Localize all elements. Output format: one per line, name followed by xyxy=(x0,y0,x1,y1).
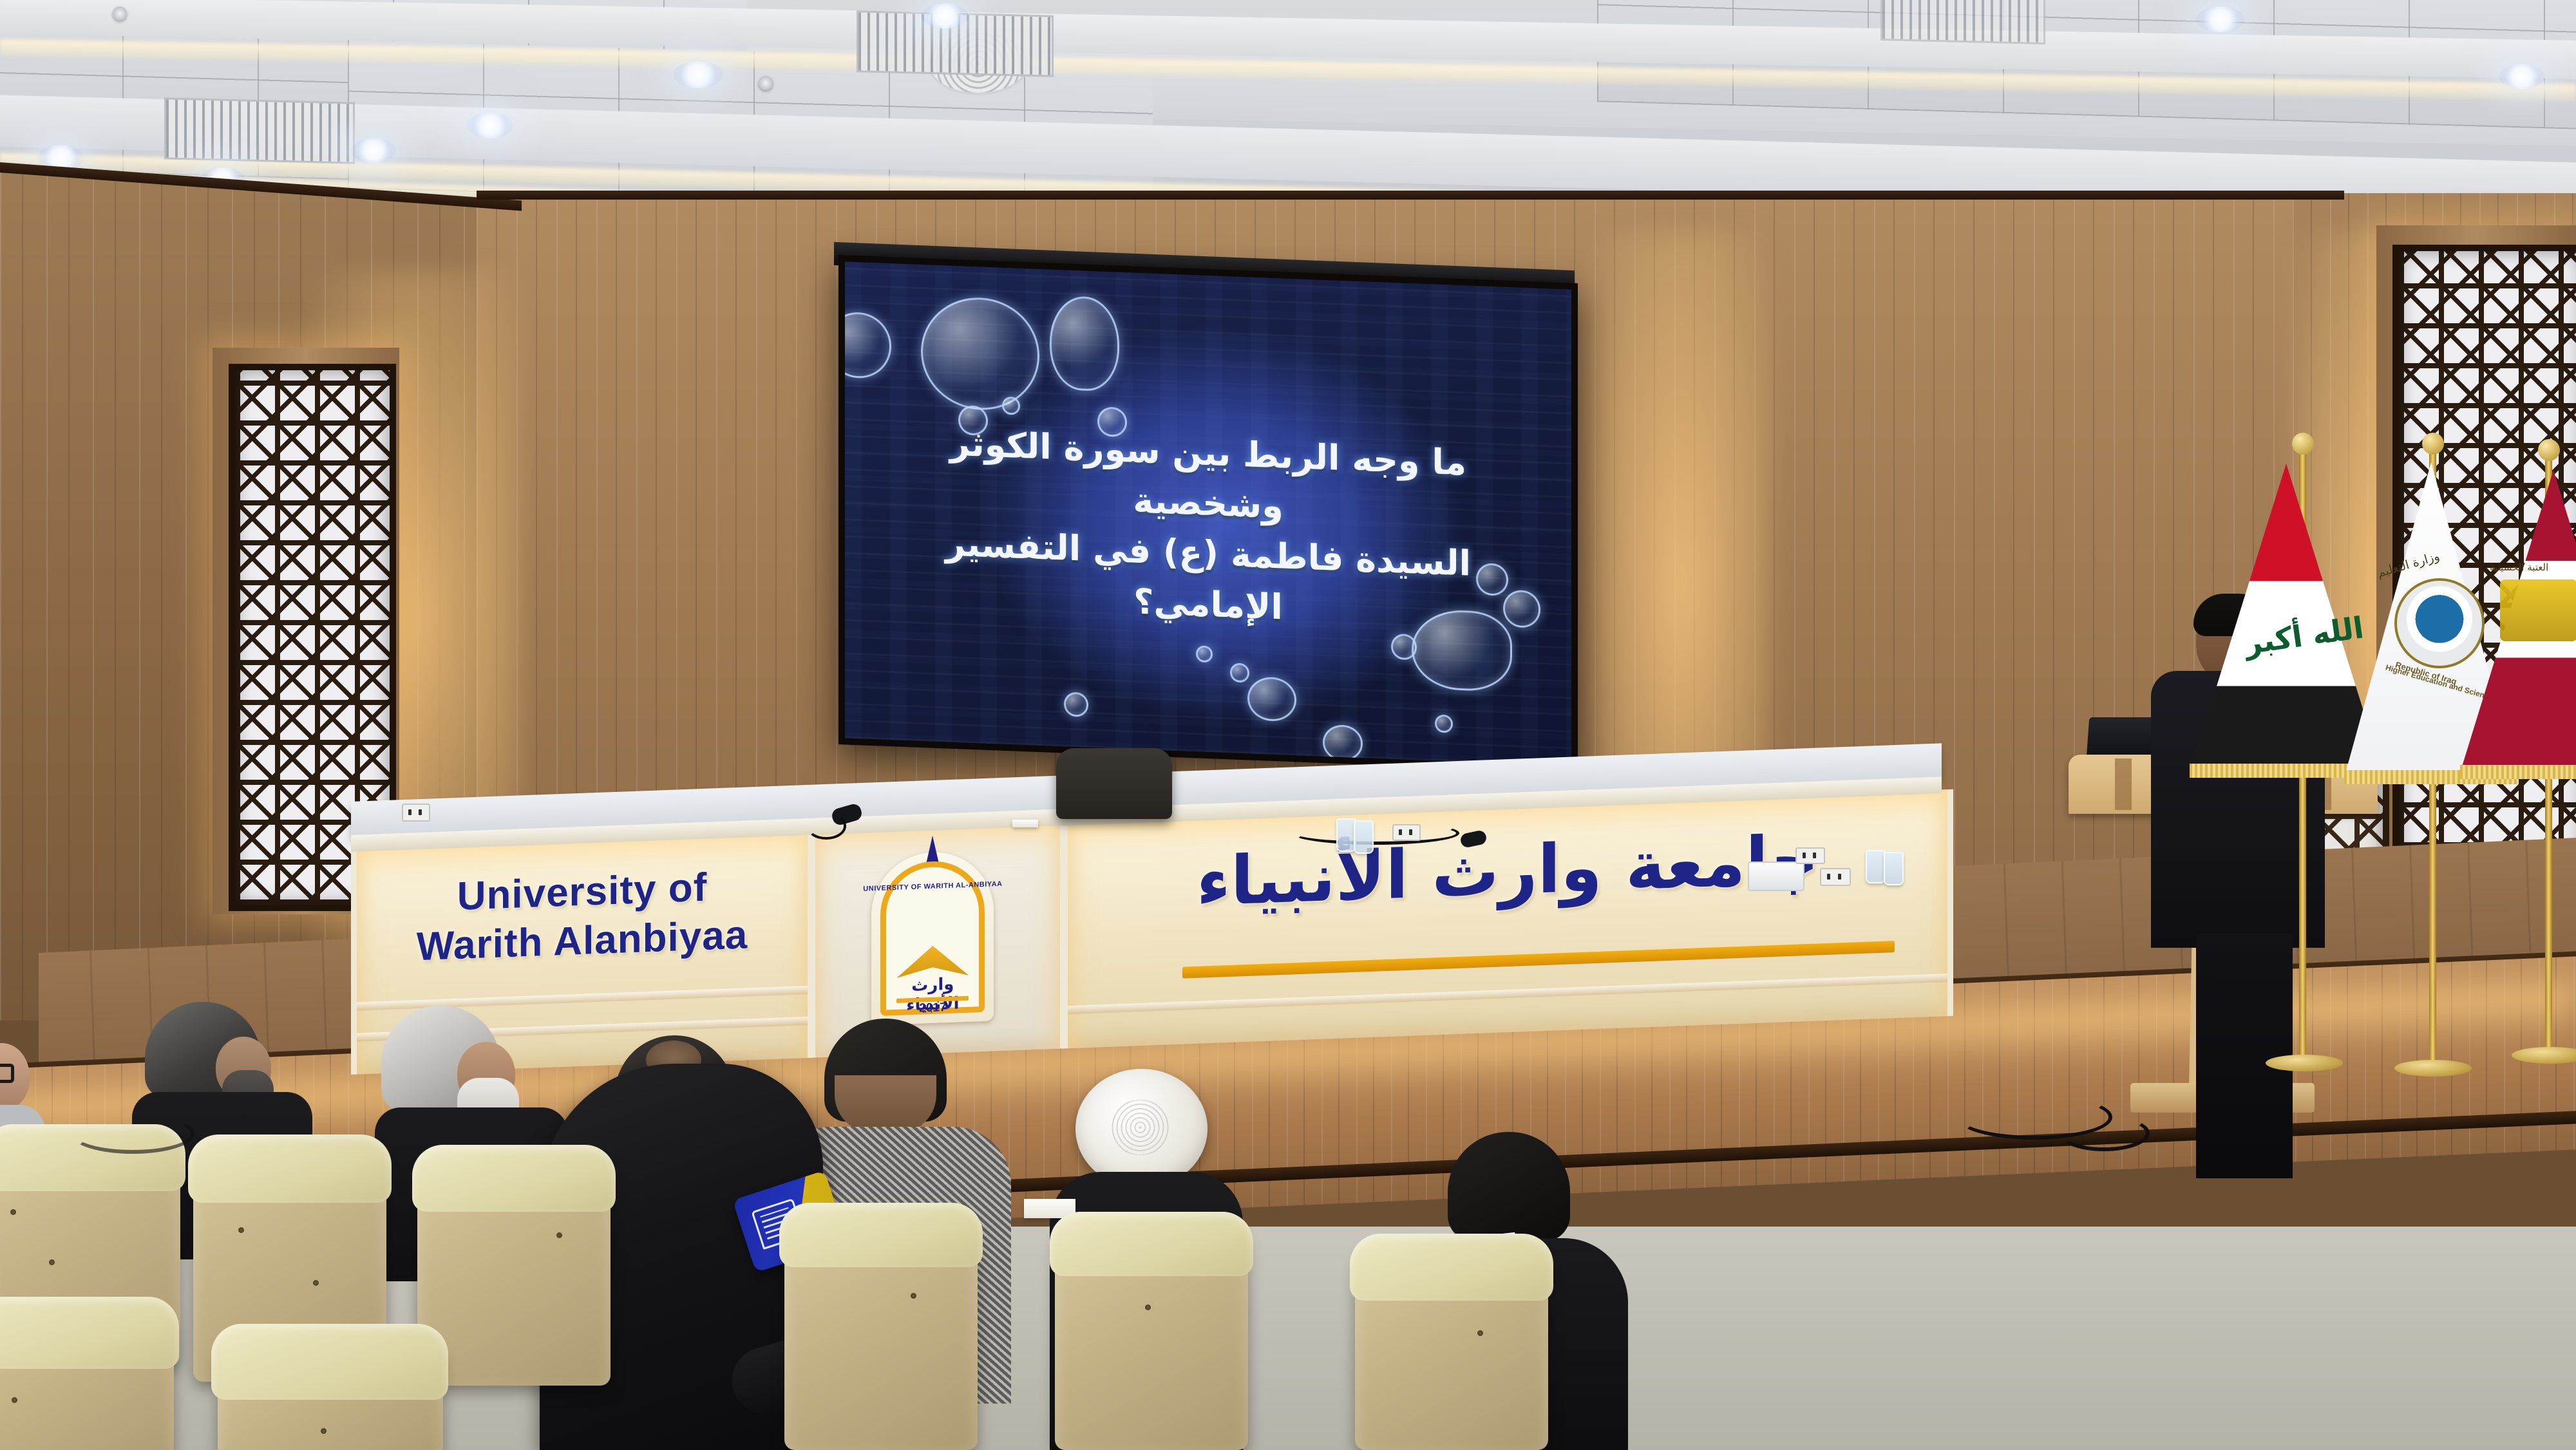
flag-finial-karbala xyxy=(2538,439,2560,461)
ceiling-downlight-3 xyxy=(351,138,396,163)
flag-karbala-label: العتبة الحسينية xyxy=(2490,561,2548,573)
ceiling-downlight-8 xyxy=(2499,64,2545,89)
seat-screw xyxy=(12,1397,17,1403)
seat-headrest-pad xyxy=(211,1324,448,1400)
presiding-chair[interactable] xyxy=(1056,748,1172,819)
stage-floor-cable-2 xyxy=(2058,1115,2150,1151)
slide-bubble xyxy=(1064,692,1088,717)
ceiling-downlight-7 xyxy=(2196,6,2245,32)
sprinkler-head-2 xyxy=(113,6,127,21)
head-table-sign-underline xyxy=(1182,941,1895,979)
seat-headrest-pad xyxy=(1050,1212,1253,1276)
seat-headrest-pad xyxy=(188,1135,392,1203)
seat-headrest-pad xyxy=(1350,1234,1553,1301)
auditorium-photo: ما وجه الربط بين سورة الكوثر وشخصية السي… xyxy=(0,0,2576,1450)
projection-screen: ما وجه الربط بين سورة الكوثر وشخصية السي… xyxy=(838,255,1578,773)
flag-karbala-emblem xyxy=(2500,579,2576,641)
seat-headrest-pad xyxy=(412,1145,616,1212)
head-table-panel-emblem: UNIVERSITY OF WARITH AL-ANBIYAA وارث الأ… xyxy=(810,822,1066,1058)
head-table-sign-arabic: جامعة وارث الأنبياء xyxy=(1068,815,1947,926)
water-glass-right-2[interactable] xyxy=(1884,852,1904,885)
power-outlet-wall-left[interactable] xyxy=(402,804,430,822)
power-outlet-desk-1[interactable] xyxy=(1392,824,1421,841)
slide-bubble xyxy=(1002,397,1020,415)
microphone-cable-left xyxy=(806,813,846,840)
head-table-panel-arabic: جامعة وارث الأنبياء xyxy=(1062,789,1953,1049)
seat-screw xyxy=(1145,1304,1151,1310)
flag-stand-ministry xyxy=(2394,1060,2472,1077)
seat-screw xyxy=(911,1293,916,1299)
seat-screw xyxy=(10,1209,16,1215)
ac-diffuser-left xyxy=(164,97,355,164)
wall-trim-top-center xyxy=(477,191,2344,200)
slide-bubble xyxy=(1196,645,1213,663)
seat-headrest-pad xyxy=(779,1203,983,1267)
emblem-open-book-icon xyxy=(896,942,969,978)
flag-finial-iraq xyxy=(2292,433,2314,455)
flag-finial-ministry xyxy=(2422,433,2444,455)
water-glass-left-2[interactable] xyxy=(1354,820,1374,854)
flag-ministry-emblem xyxy=(2394,578,2485,668)
slide-bubble xyxy=(1435,715,1453,733)
podium-wood-inlay-left xyxy=(2115,758,2132,810)
seat-screw xyxy=(1477,1330,1483,1336)
person-glasses-icon xyxy=(0,1064,14,1083)
flag-stand-iraq xyxy=(2266,1055,2343,1071)
slide-bubble xyxy=(1230,663,1249,683)
tissue-box-center[interactable] xyxy=(1748,862,1804,891)
power-outlet-wall-right[interactable] xyxy=(1795,847,1825,864)
university-emblem: UNIVERSITY OF WARITH AL-ANBIYAA وارث الأ… xyxy=(871,850,994,1025)
emblem-arch-frame: UNIVERSITY OF WARITH AL-ANBIYAA وارث الأ… xyxy=(880,860,985,1016)
emblem-arc-text: UNIVERSITY OF WARITH AL-ANBIYAA xyxy=(863,880,1002,893)
ceiling-downlight-4 xyxy=(467,113,513,138)
person-head xyxy=(835,1075,936,1133)
seat-screw xyxy=(321,1428,327,1434)
water-glass-right-1[interactable] xyxy=(1866,850,1886,883)
stage-floor-cable-3 xyxy=(71,1114,194,1154)
seat-screw xyxy=(49,1259,55,1265)
ceiling-downlight-5 xyxy=(673,61,723,88)
sprinkler-head xyxy=(759,76,773,90)
seat-headrest-pad xyxy=(0,1297,179,1369)
ceiling-downlight-6 xyxy=(921,3,969,29)
ac-diffuser-right xyxy=(1880,0,2045,44)
seat-screw xyxy=(556,1232,562,1238)
presentation-slide: ما وجه الربط بين سورة الكوثر وشخصية السي… xyxy=(845,261,1571,766)
panel-shelf-line xyxy=(1068,974,1947,1014)
slide-text-block: ما وجه الربط بين سورة الكوثر وشخصية السي… xyxy=(889,416,1528,642)
cleric-white-turban xyxy=(1075,1069,1207,1189)
power-outlet-desk-2[interactable] xyxy=(1820,868,1851,886)
table-document-left[interactable] xyxy=(1012,820,1038,827)
speaker-trousers xyxy=(2196,934,2293,1178)
microphone-cable-right xyxy=(1292,822,1459,845)
seat-screw xyxy=(238,1227,244,1233)
seat-screw xyxy=(313,1280,319,1286)
head-table-sign-english: University of Warith Alanbiyaa xyxy=(357,860,808,974)
flag-fringe-karbala xyxy=(2460,765,2576,779)
